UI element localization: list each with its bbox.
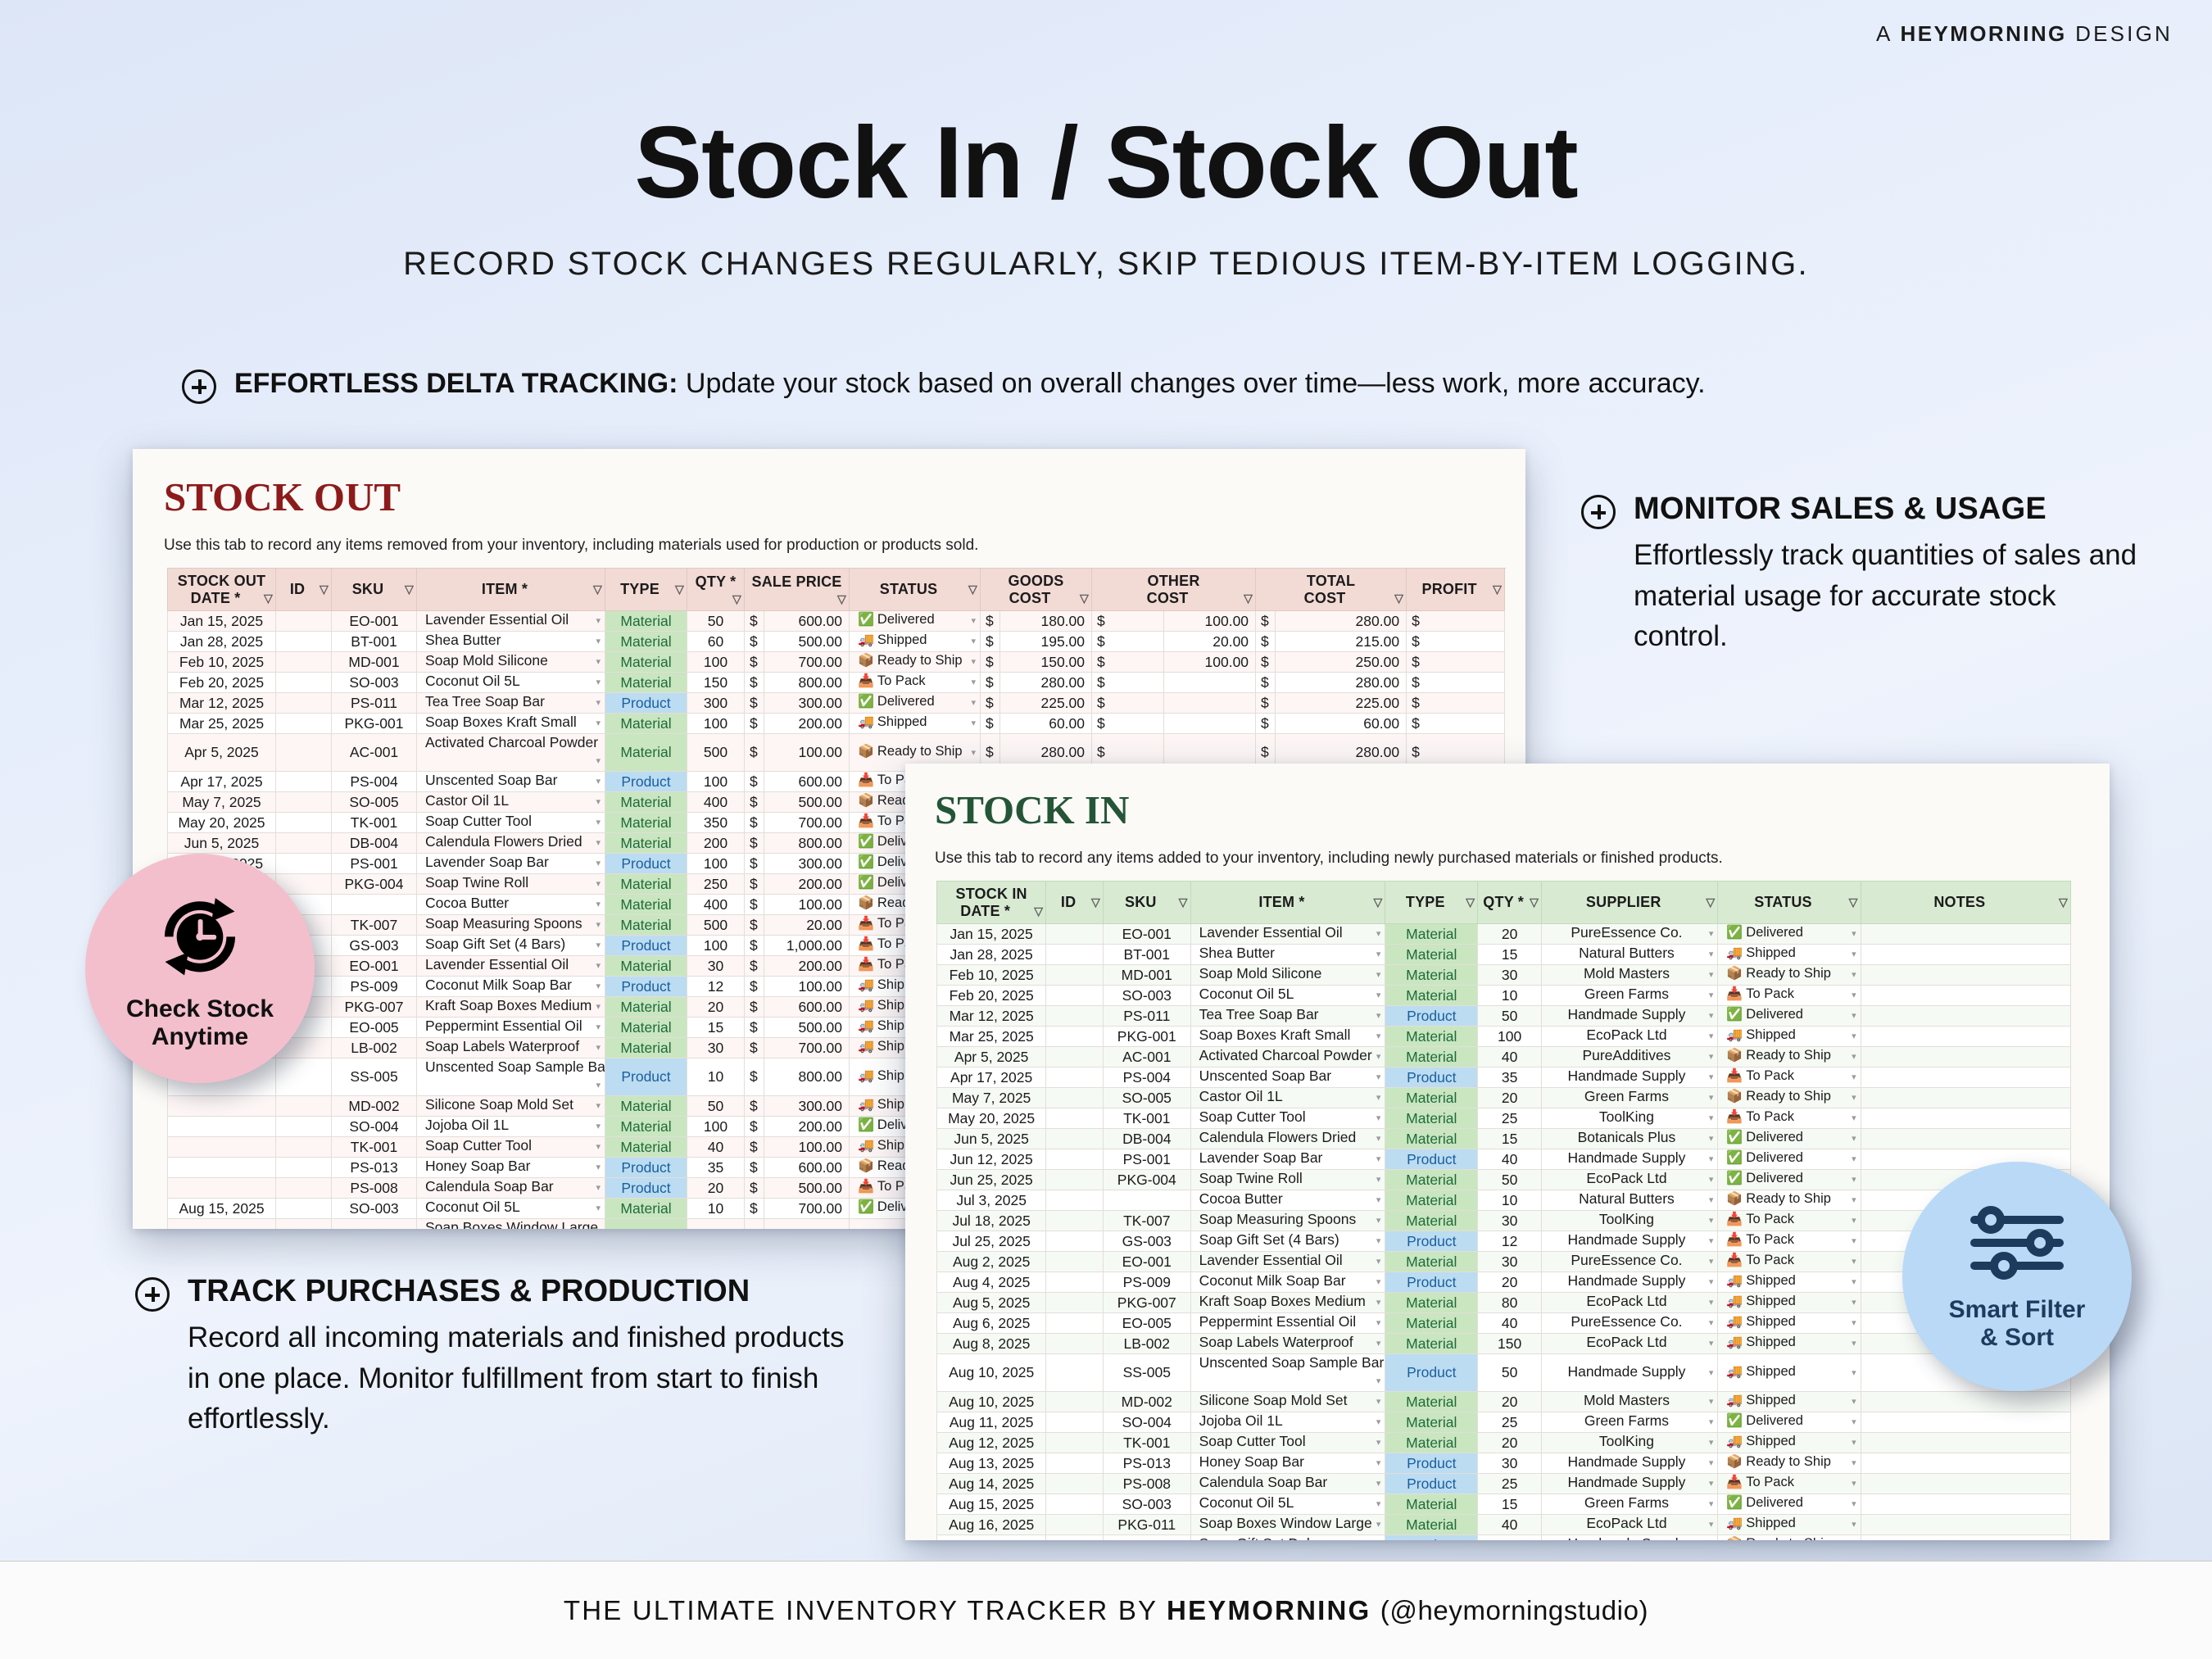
chevron-down-icon[interactable]: ▾: [971, 693, 976, 713]
chevron-down-icon[interactable]: ▾: [971, 652, 976, 672]
chevron-down-icon[interactable]: ▾: [971, 743, 976, 763]
chevron-down-icon[interactable]: ▾: [596, 1018, 601, 1037]
chevron-down-icon[interactable]: ▾: [1709, 1494, 1714, 1514]
filter-icon[interactable]: ▽: [1849, 895, 1858, 909]
chevron-down-icon[interactable]: ▾: [596, 1178, 601, 1198]
filter-icon[interactable]: ▽: [1373, 895, 1382, 909]
footer-handle: (@heymorningstudio): [1380, 1595, 1648, 1625]
chevron-down-icon[interactable]: ▾: [1376, 1313, 1381, 1333]
chevron-down-icon[interactable]: ▾: [596, 833, 601, 853]
brand-prefix: A: [1876, 21, 1892, 46]
chevron-down-icon[interactable]: ▾: [1852, 1272, 1856, 1292]
column-header-stock-in-date: STOCK INDATE *▽: [937, 882, 1046, 924]
column-header-goods-cost: GOODSCOST▽: [981, 569, 1092, 611]
chevron-down-icon[interactable]: ▾: [1852, 924, 1856, 944]
plus-icon: [182, 369, 216, 404]
stock-in-body: Jan 15, 2025EO-001Lavender Essential Oil…: [937, 924, 2071, 1541]
filter-icon[interactable]: ▽: [1394, 592, 1403, 605]
table-row[interactable]: Aug 14, 2025PS-008Calendula Soap Bar▾Pro…: [937, 1474, 2071, 1494]
chevron-down-icon[interactable]: ▾: [1709, 1433, 1714, 1453]
filter-icon[interactable]: ▽: [968, 582, 977, 596]
chevron-down-icon[interactable]: ▾: [1376, 1129, 1381, 1149]
chevron-down-icon[interactable]: ▾: [1852, 1494, 1856, 1514]
chevron-down-icon[interactable]: ▾: [1709, 924, 1714, 944]
column-header-item: ITEM *▽: [1190, 882, 1385, 924]
chevron-down-icon[interactable]: ▾: [1376, 1067, 1381, 1087]
brand-suffix: DESIGN: [2075, 21, 2173, 46]
badge-blue-label-1: Smart Filter: [1949, 1296, 2086, 1324]
chevron-down-icon[interactable]: ▾: [971, 714, 976, 733]
stock-out-title: STOCK OUT: [164, 474, 1525, 520]
chevron-down-icon[interactable]: ▾: [1852, 945, 1856, 964]
filter-icon[interactable]: ▽: [1080, 592, 1089, 605]
stock-in-table[interactable]: STOCK INDATE *▽ID▽SKU▽ITEM *▽TYPE▽QTY *▽…: [936, 881, 2071, 1540]
chevron-down-icon[interactable]: ▾: [1852, 1108, 1856, 1128]
chevron-down-icon[interactable]: ▾: [1852, 1412, 1856, 1432]
column-header-profit: PROFIT▽: [1407, 569, 1505, 611]
chevron-down-icon[interactable]: ▾: [1709, 1211, 1714, 1231]
chevron-down-icon[interactable]: ▾: [1376, 1190, 1381, 1210]
chevron-down-icon[interactable]: ▾: [1852, 1149, 1856, 1169]
table-row[interactable]: Apr 5, 2025AC-001Activated Charcoal Powd…: [937, 1047, 2071, 1067]
column-header-status: STATUS▽: [850, 569, 981, 611]
chevron-down-icon[interactable]: ▾: [1376, 1515, 1381, 1534]
filter-icon[interactable]: ▽: [1179, 895, 1188, 909]
chevron-down-icon[interactable]: ▾: [1709, 1535, 1714, 1540]
column-header-id: ID▽: [1046, 882, 1104, 924]
chevron-down-icon[interactable]: ▾: [1852, 1433, 1856, 1453]
chevron-down-icon[interactable]: ▾: [1376, 1027, 1381, 1046]
chevron-down-icon[interactable]: ▾: [1376, 1334, 1381, 1353]
chevron-down-icon[interactable]: ▾: [1852, 1474, 1856, 1494]
table-row[interactable]: Jun 5, 2025DB-004Calendula Flowers Dried…: [937, 1129, 2071, 1149]
chevron-down-icon[interactable]: ▾: [1376, 1293, 1381, 1312]
column-header-notes: NOTES▽: [1861, 882, 2070, 924]
table-row[interactable]: Aug 15, 2025SO-003Coconut Oil 5L▾Materia…: [937, 1494, 2071, 1515]
chevron-down-icon[interactable]: ▾: [1709, 1190, 1714, 1210]
table-row[interactable]: Aug 11, 2025SO-004Jojoba Oil 1L▾Material…: [937, 1412, 2071, 1433]
chevron-down-icon[interactable]: ▾: [1852, 1252, 1856, 1271]
table-row[interactable]: Jan 15, 2025EO-001Lavender Essential Oil…: [937, 924, 2071, 945]
filter-icon[interactable]: ▽: [320, 582, 329, 596]
column-header-sale-price: SALE PRICE▽: [745, 569, 850, 611]
sliders-icon: [1968, 1202, 2066, 1288]
table-row[interactable]: Mar 12, 2025PS-011Tea Tree Soap Bar▾Prod…: [937, 1006, 2071, 1027]
chevron-down-icon[interactable]: ▾: [596, 895, 601, 914]
chevron-down-icon[interactable]: ▾: [971, 611, 976, 631]
badge-pink-label-1: Check Stock: [126, 995, 274, 1023]
table-row[interactable]: Feb 20, 2025SO-003Coconut Oil 5L▾Materia…: [168, 673, 1505, 693]
table-row[interactable]: Aug 16, 2025PKG-011Soap Boxes Window Lar…: [937, 1515, 2071, 1535]
table-row[interactable]: May 20, 2025TK-001Soap Cutter Tool▾Mater…: [937, 1108, 2071, 1129]
chevron-down-icon[interactable]: ▾: [1709, 1088, 1714, 1108]
filter-icon[interactable]: ▽: [1034, 904, 1043, 918]
footer-bar: THE ULTIMATE INVENTORY TRACKER BY HEYMOR…: [0, 1561, 2212, 1659]
chevron-down-icon[interactable]: ▾: [1709, 1272, 1714, 1292]
chevron-down-icon[interactable]: ▾: [1852, 965, 1856, 985]
chevron-down-icon[interactable]: ▾: [1376, 1252, 1381, 1271]
feature-delta-title: EFFORTLESS DELTA TRACKING:: [234, 368, 678, 399]
chevron-down-icon[interactable]: ▾: [1709, 1334, 1714, 1353]
filter-icon[interactable]: ▽: [1493, 582, 1502, 596]
filter-icon[interactable]: ▽: [1091, 895, 1100, 909]
chevron-down-icon[interactable]: ▾: [596, 652, 601, 672]
chevron-down-icon[interactable]: ▾: [1852, 1392, 1856, 1412]
badge-blue-label-2: & Sort: [1949, 1324, 2086, 1352]
column-header-type: TYPE▽: [605, 569, 687, 611]
table-row[interactable]: Feb 20, 2025SO-003Coconut Oil 5L▾Materia…: [937, 986, 2071, 1006]
filter-icon[interactable]: ▽: [405, 582, 414, 596]
chevron-down-icon[interactable]: ▾: [596, 693, 601, 713]
column-header-other-cost: OTHERCOST▽: [1092, 569, 1256, 611]
clock-refresh-icon: [152, 886, 248, 987]
table-row[interactable]: Aug 12, 2025TK-001Soap Cutter Tool▾Mater…: [937, 1433, 2071, 1453]
chevron-down-icon[interactable]: ▾: [1709, 1453, 1714, 1473]
chevron-down-icon[interactable]: ▾: [1376, 1006, 1381, 1026]
plus-icon: [135, 1277, 170, 1312]
chevron-down-icon[interactable]: ▾: [1376, 1453, 1381, 1473]
chevron-down-icon[interactable]: ▾: [1376, 1474, 1381, 1494]
filter-icon[interactable]: ▽: [1466, 895, 1475, 909]
table-row[interactable]: Feb 10, 2025MD-001Soap Mold Silicone▾Mat…: [168, 652, 1505, 673]
table-row[interactable]: Aug 8, 2025LB-002Soap Labels Waterproof▾…: [937, 1334, 2071, 1354]
chevron-down-icon[interactable]: ▾: [596, 1076, 601, 1095]
chevron-down-icon[interactable]: ▾: [1852, 1006, 1856, 1026]
page-subtitle: RECORD STOCK CHANGES REGULARLY, SKIP TED…: [0, 246, 2212, 283]
table-row[interactable]: Aug 5, 2025PKG-007Kraft Soap Boxes Mediu…: [937, 1293, 2071, 1313]
chevron-down-icon[interactable]: ▾: [596, 1137, 601, 1157]
chevron-down-icon[interactable]: ▾: [596, 936, 601, 955]
chevron-down-icon[interactable]: ▾: [1709, 1363, 1714, 1383]
chevron-down-icon[interactable]: ▾: [1852, 1515, 1856, 1534]
chevron-down-icon[interactable]: ▾: [1709, 1412, 1714, 1432]
table-row[interactable]: Mar 25, 2025PKG-001Soap Boxes Kraft Smal…: [168, 714, 1505, 734]
chevron-down-icon[interactable]: ▾: [1709, 945, 1714, 964]
filter-icon[interactable]: ▽: [2059, 895, 2068, 909]
table-row[interactable]: Jan 15, 2025EO-001Lavender Essential Oil…: [168, 611, 1505, 632]
chevron-down-icon[interactable]: ▾: [1376, 1088, 1381, 1108]
chevron-down-icon[interactable]: ▾: [1376, 1272, 1381, 1292]
chevron-down-icon[interactable]: ▾: [1852, 1129, 1856, 1149]
chevron-down-icon[interactable]: ▾: [1709, 1515, 1714, 1534]
table-row[interactable]: Aug 6, 2025EO-005Peppermint Essential Oi…: [937, 1313, 2071, 1334]
chevron-down-icon[interactable]: ▾: [1852, 1363, 1856, 1383]
column-header-supplier: SUPPLIER▽: [1542, 882, 1718, 924]
filter-icon[interactable]: ▽: [1706, 895, 1715, 909]
column-header-qty: QTY *▽: [687, 569, 745, 611]
column-header-qty: QTY *▽: [1478, 882, 1542, 924]
feature-track-title: TRACK PURCHASES & PRODUCTION: [188, 1274, 856, 1309]
chevron-down-icon[interactable]: ▾: [1376, 924, 1381, 944]
chevron-down-icon[interactable]: ▾: [596, 1117, 601, 1136]
chevron-down-icon[interactable]: ▾: [1376, 1371, 1381, 1391]
stock-out-note: Use this tab to record any items removed…: [164, 537, 1525, 555]
chevron-down-icon[interactable]: ▾: [1709, 1313, 1714, 1333]
chevron-down-icon[interactable]: ▾: [1852, 1453, 1856, 1473]
chevron-down-icon[interactable]: ▾: [1709, 1392, 1714, 1412]
chevron-down-icon[interactable]: ▾: [596, 813, 601, 832]
chevron-down-icon[interactable]: ▾: [596, 632, 601, 651]
chevron-down-icon[interactable]: ▾: [1376, 1170, 1381, 1190]
feature-track-body: Record all incoming materials and finish…: [188, 1317, 856, 1439]
chevron-down-icon[interactable]: ▾: [596, 792, 601, 812]
chevron-down-icon[interactable]: ▾: [1376, 1231, 1381, 1251]
column-header-sku: SKU▽: [332, 569, 417, 611]
chevron-down-icon[interactable]: ▾: [1376, 1392, 1381, 1412]
badge-smart-filter-sort: Smart Filter & Sort: [1902, 1162, 2132, 1391]
filter-icon[interactable]: ▽: [732, 592, 741, 606]
table-row[interactable]: Mar 25, 2025PKG-001Soap Boxes Kraft Smal…: [937, 1027, 2071, 1047]
chevron-down-icon[interactable]: ▾: [596, 1199, 601, 1218]
feature-monitor-sales: MONITOR SALES & USAGE Effortlessly track…: [1581, 492, 2155, 657]
chevron-down-icon[interactable]: ▾: [1376, 1412, 1381, 1432]
feature-monitor-title: MONITOR SALES & USAGE: [1634, 492, 2155, 527]
footer-brand: HEYMORNING: [1167, 1595, 1371, 1625]
badge-check-stock-anytime: Check Stock Anytime: [85, 854, 315, 1083]
chevron-down-icon[interactable]: ▾: [1376, 1108, 1381, 1128]
chevron-down-icon[interactable]: ▾: [1709, 965, 1714, 985]
column-header-total-cost: TOTALCOST▽: [1256, 569, 1407, 611]
chevron-down-icon[interactable]: ▾: [596, 956, 601, 976]
chevron-down-icon[interactable]: ▾: [1376, 1494, 1381, 1514]
stock-in-title: STOCK IN: [935, 786, 2110, 833]
chevron-down-icon[interactable]: ▾: [596, 874, 601, 894]
filter-icon[interactable]: ▽: [837, 592, 846, 606]
chevron-down-icon[interactable]: ▾: [1376, 986, 1381, 1005]
chevron-down-icon[interactable]: ▾: [596, 714, 601, 733]
table-row[interactable]: Aug 10, 2025MD-002Silicone Soap Mold Set…: [937, 1392, 2071, 1412]
column-header-status: STATUS▽: [1718, 882, 1861, 924]
table-row[interactable]: Mar 12, 2025PS-011Tea Tree Soap Bar▾Prod…: [168, 693, 1505, 714]
chevron-down-icon[interactable]: ▾: [1709, 1108, 1714, 1128]
chevron-down-icon[interactable]: ▾: [1709, 1170, 1714, 1190]
chevron-down-icon[interactable]: ▾: [1709, 1252, 1714, 1271]
table-row[interactable]: Feb 10, 2025MD-001Soap Mold Silicone▾Mat…: [937, 965, 2071, 986]
stock-in-spreadsheet[interactable]: STOCK IN Use this tab to record any item…: [905, 764, 2110, 1540]
chevron-down-icon[interactable]: ▾: [1376, 1535, 1381, 1540]
plus-icon: [1581, 495, 1616, 529]
column-header-item: ITEM *▽: [417, 569, 605, 611]
chevron-down-icon[interactable]: ▾: [1376, 1211, 1381, 1231]
table-row[interactable]: Jul 25, 2025GS-003Soap Gift Set (4 Bars)…: [937, 1231, 2071, 1252]
chevron-down-icon[interactable]: ▾: [596, 854, 601, 873]
chevron-down-icon[interactable]: ▾: [596, 997, 601, 1017]
chevron-down-icon[interactable]: ▾: [1852, 1088, 1856, 1108]
chevron-down-icon[interactable]: ▾: [1376, 945, 1381, 964]
page-title: Stock In / Stock Out: [0, 105, 2212, 221]
chevron-down-icon[interactable]: ▾: [1852, 1067, 1856, 1087]
filter-icon[interactable]: ▽: [264, 592, 273, 605]
chevron-down-icon[interactable]: ▾: [1709, 1474, 1714, 1494]
chevron-down-icon[interactable]: ▾: [1852, 1231, 1856, 1251]
brand-tagline: A HEYMORNING DESIGN: [1876, 21, 2173, 47]
badge-pink-label-2: Anytime: [126, 1023, 274, 1051]
feature-track-purchases: TRACK PURCHASES & PRODUCTION Record all …: [135, 1274, 856, 1439]
chevron-down-icon[interactable]: ▾: [1852, 1211, 1856, 1231]
column-header-id: ID▽: [276, 569, 332, 611]
table-row[interactable]: Aug 13, 2025PS-013Honey Soap Bar▾Product…: [937, 1453, 2071, 1474]
chevron-down-icon[interactable]: ▾: [1709, 1149, 1714, 1169]
table-row[interactable]: Aug 10, 2025SS-005Unscented Soap Sample …: [937, 1354, 2071, 1392]
chevron-down-icon[interactable]: ▾: [1852, 1047, 1856, 1067]
chevron-down-icon[interactable]: ▾: [1709, 986, 1714, 1005]
chevron-down-icon[interactable]: ▾: [596, 772, 601, 791]
chevron-down-icon[interactable]: ▾: [1376, 965, 1381, 985]
chevron-down-icon[interactable]: ▾: [596, 673, 601, 692]
feature-delta-tracking: EFFORTLESS DELTA TRACKING: Update your s…: [182, 366, 2066, 404]
column-header-stock-out-date: STOCK OUTDATE *▽: [168, 569, 276, 611]
chevron-down-icon[interactable]: ▾: [971, 673, 976, 692]
chevron-down-icon[interactable]: ▾: [596, 751, 601, 771]
table-row[interactable]: Aug 4, 2025PS-009Coconut Milk Soap Bar▾P…: [937, 1272, 2071, 1293]
table-row[interactable]: Jun 25, 2025PKG-004Soap Twine Roll▾Mater…: [937, 1170, 2071, 1190]
stock-out-header-row: STOCK OUTDATE *▽ID▽SKU▽ITEM *▽TYPE▽QTY *…: [168, 569, 1505, 611]
chevron-down-icon[interactable]: ▾: [1852, 1027, 1856, 1046]
chevron-down-icon[interactable]: ▾: [596, 977, 601, 996]
table-row[interactable]: Jun 12, 2025PS-001Lavender Soap Bar▾Prod…: [937, 1149, 2071, 1170]
chevron-down-icon[interactable]: ▾: [1852, 1334, 1856, 1353]
chevron-down-icon[interactable]: ▾: [1709, 1006, 1714, 1026]
table-row[interactable]: Jan 28, 2025BT-001Shea Butter▾Material60…: [168, 632, 1505, 652]
table-row[interactable]: Jul 3, 2025Cocoa Butter▾Material10Natura…: [937, 1190, 2071, 1211]
chevron-down-icon[interactable]: ▾: [1709, 1129, 1714, 1149]
chevron-down-icon[interactable]: ▾: [1709, 1047, 1714, 1067]
chevron-down-icon[interactable]: ▾: [1376, 1149, 1381, 1169]
filter-icon[interactable]: ▽: [1244, 592, 1253, 605]
table-row[interactable]: Aug 17, 2025GS-006Soap Gift Set Deluxe▾P…: [937, 1535, 2071, 1541]
chevron-down-icon[interactable]: ▾: [1852, 1170, 1856, 1190]
chevron-down-icon[interactable]: ▾: [1709, 1231, 1714, 1251]
chevron-down-icon[interactable]: ▾: [1852, 1190, 1856, 1210]
table-row[interactable]: Apr 17, 2025PS-004Unscented Soap Bar▾Pro…: [937, 1067, 2071, 1088]
filter-icon[interactable]: ▽: [593, 582, 602, 596]
column-header-type: TYPE▽: [1385, 882, 1478, 924]
filter-icon[interactable]: ▽: [675, 582, 684, 596]
brand-name: HEYMORNING: [1901, 21, 2067, 46]
chevron-down-icon[interactable]: ▾: [1376, 1433, 1381, 1453]
chevron-down-icon[interactable]: ▾: [1709, 1067, 1714, 1087]
chevron-down-icon[interactable]: ▾: [596, 1096, 601, 1116]
chevron-down-icon[interactable]: ▾: [596, 611, 601, 631]
chevron-down-icon[interactable]: ▾: [596, 1158, 601, 1177]
chevron-down-icon[interactable]: ▾: [1709, 1027, 1714, 1046]
chevron-down-icon[interactable]: ▾: [1709, 1293, 1714, 1312]
feature-delta-body: Update your stock based on overall chang…: [686, 368, 1706, 399]
chevron-down-icon[interactable]: ▾: [596, 1038, 601, 1058]
chevron-down-icon[interactable]: ▾: [971, 632, 976, 651]
table-row[interactable]: Aug 2, 2025EO-001Lavender Essential Oil▾…: [937, 1252, 2071, 1272]
column-header-sku: SKU▽: [1103, 882, 1190, 924]
feature-monitor-body: Effortlessly track quantities of sales a…: [1634, 535, 2155, 657]
stock-in-note: Use this tab to record any items added t…: [935, 850, 2110, 868]
chevron-down-icon[interactable]: ▾: [596, 915, 601, 935]
chevron-down-icon[interactable]: ▾: [1852, 1535, 1856, 1540]
table-row[interactable]: May 7, 2025SO-005Castor Oil 1L▾Material2…: [937, 1088, 2071, 1108]
chevron-down-icon[interactable]: ▾: [1852, 986, 1856, 1005]
stock-in-header-row: STOCK INDATE *▽ID▽SKU▽ITEM *▽TYPE▽QTY *▽…: [937, 882, 2071, 924]
chevron-down-icon[interactable]: ▾: [1376, 1047, 1381, 1067]
table-row[interactable]: Jul 18, 2025TK-007Soap Measuring Spoons▾…: [937, 1211, 2071, 1231]
footer-prefix: THE ULTIMATE INVENTORY TRACKER BY: [564, 1595, 1158, 1625]
chevron-down-icon[interactable]: ▾: [1852, 1313, 1856, 1333]
chevron-down-icon[interactable]: ▾: [1852, 1293, 1856, 1312]
filter-icon[interactable]: ▽: [1530, 895, 1539, 909]
table-row[interactable]: Jan 28, 2025BT-001Shea Butter▾Material15…: [937, 945, 2071, 965]
